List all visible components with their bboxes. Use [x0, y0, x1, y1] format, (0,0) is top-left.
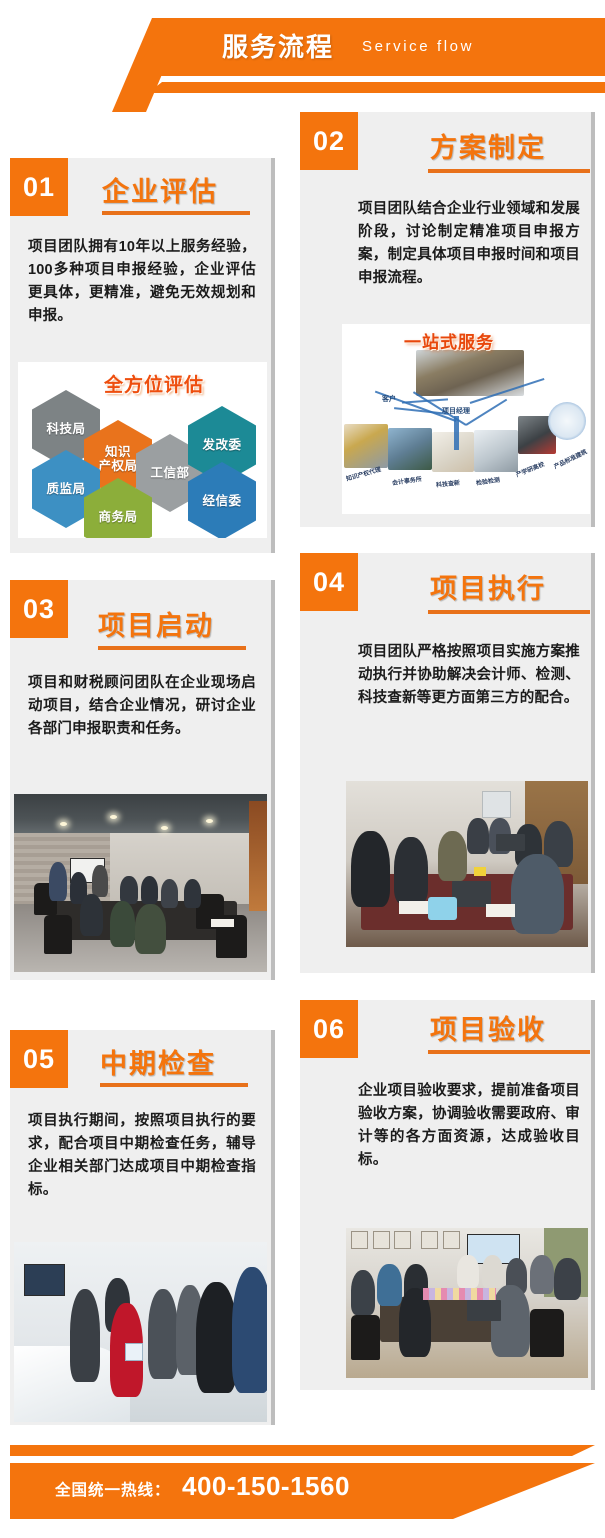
title-underline: [102, 211, 250, 215]
service-endpoint-photo: [474, 430, 518, 472]
page-subtitle: Service flow: [362, 38, 474, 55]
card-description: 项目和财税顾问团队在企业现场启动项目，结合企业情况，研讨企业各部门申报职责和任务…: [28, 672, 256, 741]
service-flow-infographic: 服务流程 Service flow 01 企业评估 项目团队拥有10年以上服务经…: [0, 0, 605, 1538]
service-arrow: [454, 416, 459, 450]
title-underline: [98, 646, 246, 650]
hotline-label: 全国统一热线：: [55, 1478, 171, 1500]
service-client-label: 客户: [382, 394, 396, 404]
card-description: 项目团队结合企业行业领域和发展阶段，讨论制定精准项目申报方案，制定具体项目申报时…: [358, 198, 580, 290]
step-number-badge: 01: [10, 158, 68, 216]
service-center-label: 项目经理: [442, 406, 470, 416]
service-endpoint-label: 科技查新: [436, 478, 461, 489]
page-footer: 全国统一热线： 400-150-1560: [0, 1403, 605, 1538]
service-endpoint-photo: [344, 424, 388, 468]
service-endpoint-label: 检验检测: [475, 475, 500, 487]
step-card-02: 02 方案制定 项目团队结合企业行业领域和发展阶段，讨论制定精准项目申报方案，制…: [300, 112, 595, 527]
service-seal-badge: [548, 402, 586, 440]
service-diagram-heading: 一站式服务: [404, 328, 494, 353]
service-endpoint-photo: [432, 432, 474, 472]
step-card-01: 01 企业评估 项目团队拥有10年以上服务经验，100多种项目申报经验，企业评估…: [10, 158, 275, 553]
title-underline: [100, 1083, 248, 1087]
acceptance-meeting-photo: [346, 1228, 588, 1378]
service-endpoint-label: 产品标准建筑: [552, 447, 588, 471]
title-underline: [428, 1050, 590, 1054]
service-endpoint-photo: [388, 428, 432, 470]
service-endpoint-label: 会计事务所: [391, 474, 422, 487]
conference-room-photo: [14, 794, 267, 972]
card-description: 项目团队严格按照项目实施方案推动执行并协助解决会计师、检测、科技查新等更方面第三…: [358, 641, 580, 710]
step-number-badge: 02: [300, 112, 358, 170]
card-title: 项目启动: [98, 604, 214, 643]
card-description: 项目执行期间，按照项目执行的要求，配合项目中期检查任务，辅导企业相关部门达成项目…: [28, 1110, 256, 1202]
step-card-04: 04 项目执行 项目团队严格按照项目实施方案推动执行并协助解决会计师、检测、科技…: [300, 553, 595, 973]
service-endpoint-label: 产学研高校: [514, 459, 545, 479]
step-card-06: 06 项目验收 企业项目验收要求，提前准备项目验收方案，协调验收需要政府、审计等…: [300, 1000, 595, 1390]
footer-accent-stripe: [10, 1445, 595, 1456]
card-description: 项目团队拥有10年以上服务经验，100多种项目申报经验，企业评估更具体，更精准，…: [28, 236, 256, 328]
page-header: 服务流程 Service flow: [0, 0, 605, 112]
meeting-laptops-photo: [346, 781, 588, 947]
page-title: 服务流程: [222, 27, 334, 64]
card-title: 项目执行: [430, 567, 546, 606]
one-stop-service-diagram: 一站式服务 客户 项目经理 知识产权代理 会计事务所 科技查新 检验检测 产学研…: [342, 324, 590, 514]
step-number-badge: 03: [10, 580, 68, 638]
card-title: 企业评估: [102, 170, 218, 209]
title-underline: [428, 610, 590, 614]
step-card-03: 03 项目启动 项目和财税顾问团队在企业现场启动项目，结合企业情况，研讨企业各部…: [10, 580, 275, 980]
step-number-badge: 05: [10, 1030, 68, 1088]
hotline-number[interactable]: 400-150-1560: [182, 1471, 350, 1502]
card-title: 项目验收: [430, 1008, 546, 1047]
hexagon-diagram: 全方位评估 科技局 知识 产权局 质监局 工信部 商务局 发改委 经信委: [18, 362, 267, 538]
hexagon-diagram-heading: 全方位评估: [104, 370, 204, 397]
card-description: 企业项目验收要求，提前准备项目验收方案，协调验收需要政府、审计等的各方面资源，达…: [358, 1080, 580, 1172]
site-visit-photo: [14, 1242, 267, 1422]
header-accent-stripe: [148, 82, 605, 93]
step-card-05: 05 中期检查 项目执行期间，按照项目执行的要求，配合项目中期检查任务，辅导企业…: [10, 1030, 275, 1425]
title-underline: [428, 169, 590, 173]
step-number-badge: 06: [300, 1000, 358, 1058]
card-title: 方案制定: [430, 126, 546, 165]
step-number-badge: 04: [300, 553, 358, 611]
card-title: 中期检查: [100, 1042, 216, 1081]
